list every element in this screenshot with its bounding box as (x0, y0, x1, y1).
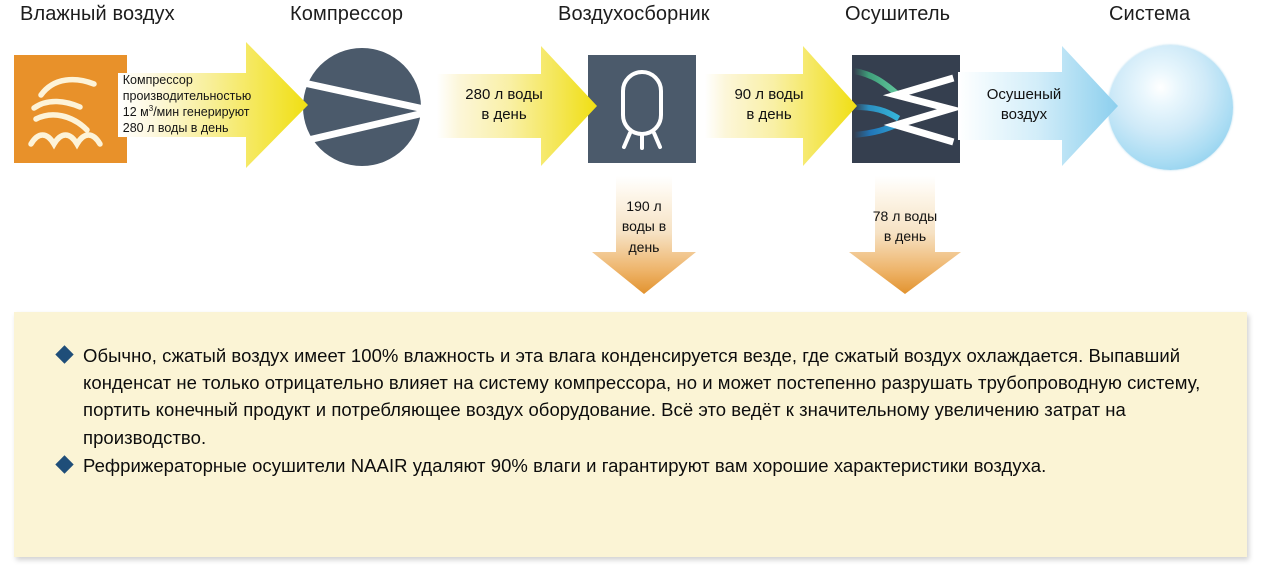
drain-78-line-1: 78 л воды (873, 206, 938, 226)
flow-90-line-2: в день (734, 105, 803, 125)
flow-arrow-compressor-capacity: Компрессор производительностью 12 м3/мин… (118, 42, 308, 168)
air-receiver-icon (588, 55, 696, 163)
drain-arrow-190: 190 л воды в день (592, 176, 696, 294)
stage-title-compressor: Компрессор (290, 4, 403, 24)
drain-arrow-190-label: 190 л воды в день (622, 176, 666, 257)
drain-78-line-2: в день (873, 226, 938, 246)
drain-190-line-3: день (622, 237, 666, 257)
flow-dry-line-2: воздух (987, 105, 1062, 125)
flow-280-line-2: в день (465, 105, 542, 125)
compressor-disc-icon (302, 47, 422, 167)
flow-arrow-90: 90 л воды в день (705, 46, 857, 166)
capacity-line-3-post: /мин генерируют (153, 105, 249, 119)
note-item: Обычно, сжатый воздух имеет 100% влажнос… (48, 342, 1213, 451)
flow-arrow-compressor-capacity-label: Компрессор производительностью 12 м3/мин… (123, 72, 252, 138)
stage-title-system: Система (1109, 4, 1190, 24)
flow-arrow-90-label: 90 л воды в день (734, 85, 803, 128)
flow-arrow-dry-air-label: Осушеный воздух (987, 85, 1062, 128)
note-text: Рефрижераторные осушители NAAIR удаляют … (83, 452, 1046, 479)
capacity-line-2: производительностью (123, 88, 252, 104)
process-diagram: Влажный воздух Компрессор Воздухосборник… (0, 0, 1261, 587)
dryer-icon (852, 55, 960, 163)
humid-air-icon (14, 55, 127, 163)
drain-arrow-78: 78 л воды в день (849, 176, 961, 294)
drain-arrow-78-label: 78 л воды в день (873, 176, 938, 247)
stage-title-dryer: Осушитель (845, 4, 950, 24)
capacity-line-3-pre: 12 м (123, 105, 149, 119)
flow-280-line-1: 280 л воды (465, 85, 542, 105)
flow-arrow-dry-air: Осушеный воздух (958, 46, 1118, 166)
pressure-tank-icon (588, 55, 696, 163)
capacity-line-4: 280 л воды в день (123, 120, 252, 136)
system-sphere-icon (1108, 45, 1233, 170)
heat-exchanger-zigzag-icon (852, 55, 960, 163)
flow-arrow-280-label: 280 л воды в день (465, 85, 542, 128)
stage-title-air-receiver: Воздухосборник (558, 4, 710, 24)
stage-title-humid-air: Влажный воздух (20, 4, 175, 24)
notes-panel: Обычно, сжатый воздух имеет 100% влажнос… (14, 312, 1247, 557)
water-vapor-icon (14, 55, 127, 163)
capacity-line-1: Компрессор (123, 72, 252, 88)
flow-90-line-1: 90 л воды (734, 85, 803, 105)
diamond-bullet-icon (55, 455, 73, 473)
flow-dry-line-1: Осушеный (987, 85, 1062, 105)
drain-190-line-1: 190 л (622, 196, 666, 216)
drain-190-line-2: воды в (622, 216, 666, 236)
capacity-line-3: 12 м3/мин генерируют (123, 104, 252, 120)
diamond-bullet-icon (55, 345, 73, 363)
compressor-icon (302, 47, 422, 167)
note-item: Рефрижераторные осушители NAAIR удаляют … (48, 452, 1213, 479)
note-text: Обычно, сжатый воздух имеет 100% влажнос… (83, 342, 1213, 451)
flow-arrow-280: 280 л воды в день (437, 46, 597, 166)
